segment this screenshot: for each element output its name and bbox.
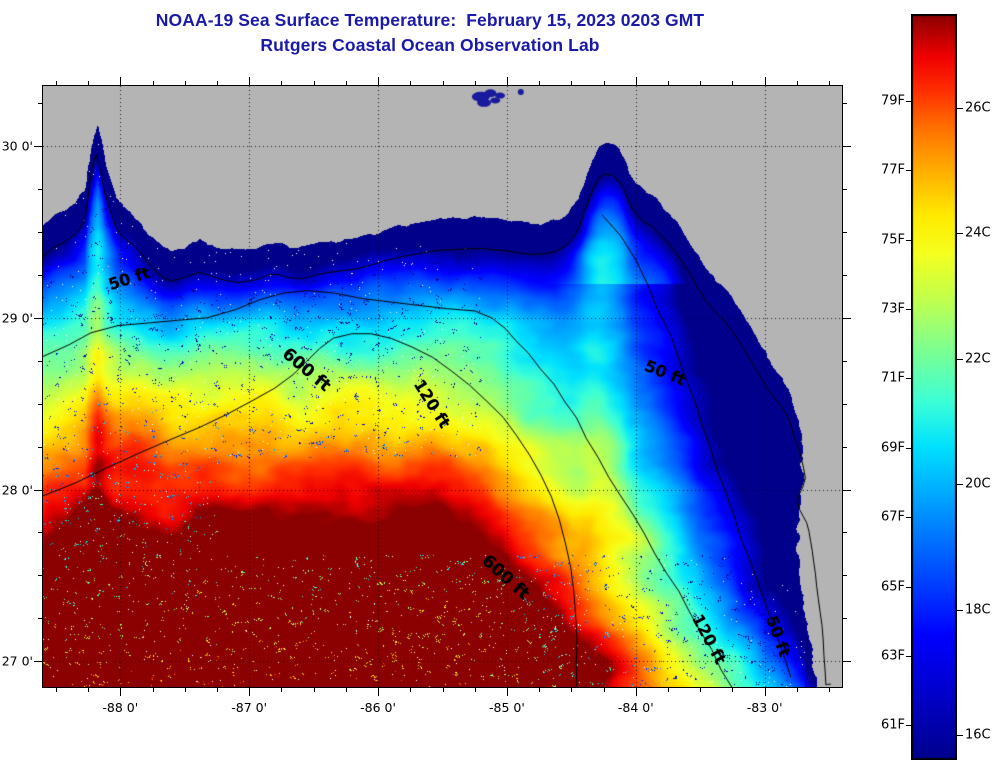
x-minor-tick-top <box>668 81 669 86</box>
colorbar-tick-f <box>906 101 912 102</box>
x-axis-label: -83 0' <box>747 700 783 715</box>
colorbar-label-celsius: 18C <box>965 602 991 617</box>
page-title: NOAA-19 Sea Surface Temperature: Februar… <box>0 8 860 58</box>
x-minor-tick-top <box>88 81 89 86</box>
x-minor-tick-top <box>217 81 218 86</box>
x-minor-tick <box>829 687 830 692</box>
x-minor-tick-top <box>410 81 411 86</box>
y-minor-tick <box>38 189 43 190</box>
sst-heatmap-canvas <box>43 86 842 687</box>
colorbar-label-fahrenheit: 79F <box>865 93 905 108</box>
y-minor-tick-right <box>842 404 847 405</box>
x-minor-tick <box>88 687 89 692</box>
x-minor-tick-top <box>829 81 830 86</box>
x-minor-tick <box>346 687 347 692</box>
colorbar-tick-c <box>957 735 963 736</box>
x-minor-tick <box>281 687 282 692</box>
y-axis-label: 28 0' <box>0 482 33 497</box>
title-line-2: Rutgers Coastal Ocean Observation Lab <box>0 33 860 58</box>
y-axis-label: 30 0' <box>0 139 33 154</box>
x-minor-tick <box>314 687 315 692</box>
colorbar-label-celsius: 20C <box>965 477 991 492</box>
x-minor-tick-top <box>314 81 315 86</box>
x-minor-tick <box>797 687 798 692</box>
y-minor-tick <box>38 103 43 104</box>
x-minor-tick <box>56 687 57 692</box>
colorbar-label-fahrenheit: 63F <box>865 648 905 663</box>
x-minor-tick-top <box>732 81 733 86</box>
x-minor-tick-top <box>56 81 57 86</box>
colorbar-tick-f <box>906 170 912 171</box>
y-minor-tick-right <box>842 618 847 619</box>
x-minor-tick <box>153 687 154 692</box>
x-minor-tick <box>604 687 605 692</box>
x-major-tick-top <box>120 77 121 86</box>
y-minor-tick <box>38 447 43 448</box>
x-minor-tick-top <box>185 81 186 86</box>
y-major-tick-right <box>842 146 851 147</box>
y-minor-tick-right <box>842 575 847 576</box>
colorbar-tick-f <box>906 240 912 241</box>
x-minor-tick <box>700 687 701 692</box>
y-minor-tick <box>38 275 43 276</box>
x-major-tick-top <box>507 77 508 86</box>
colorbar-label-fahrenheit: 75F <box>865 232 905 247</box>
colorbar-tick-f <box>906 725 912 726</box>
y-major-tick-right <box>842 318 851 319</box>
x-minor-tick <box>217 687 218 692</box>
x-axis-label: -87 0' <box>231 700 267 715</box>
colorbar-label-fahrenheit: 61F <box>865 718 905 733</box>
colorbar-label-fahrenheit: 73F <box>865 301 905 316</box>
y-minor-tick <box>38 232 43 233</box>
y-major-tick <box>34 318 43 319</box>
x-major-tick <box>249 687 250 696</box>
y-major-tick-right <box>842 661 851 662</box>
sst-map <box>42 85 843 688</box>
x-minor-tick-top <box>443 81 444 86</box>
y-minor-tick-right <box>842 447 847 448</box>
y-minor-tick-right <box>842 275 847 276</box>
colorbar-tick-c <box>957 233 963 234</box>
x-axis-label: -88 0' <box>102 700 138 715</box>
x-minor-tick-top <box>604 81 605 86</box>
y-major-tick <box>34 661 43 662</box>
x-major-tick <box>378 687 379 696</box>
y-minor-tick <box>38 404 43 405</box>
x-major-tick-top <box>249 77 250 86</box>
colorbar-tick-f <box>906 656 912 657</box>
colorbar-label-fahrenheit: 71F <box>865 371 905 386</box>
colorbar-gradient <box>911 14 957 760</box>
colorbar-tick-c <box>957 108 963 109</box>
x-major-tick <box>765 687 766 696</box>
x-minor-tick-top <box>153 81 154 86</box>
colorbar-tick-f <box>906 448 912 449</box>
x-minor-tick <box>668 687 669 692</box>
x-minor-tick <box>443 687 444 692</box>
y-minor-tick <box>38 532 43 533</box>
colorbar-tick-c <box>957 359 963 360</box>
y-minor-tick <box>38 575 43 576</box>
colorbar-label-celsius: 26C <box>965 101 991 116</box>
x-minor-tick-top <box>700 81 701 86</box>
y-minor-tick-right <box>842 361 847 362</box>
x-minor-tick-top <box>346 81 347 86</box>
x-minor-tick <box>185 687 186 692</box>
x-major-tick-top <box>765 77 766 86</box>
colorbar-label-fahrenheit: 77F <box>865 163 905 178</box>
x-minor-tick-top <box>571 81 572 86</box>
x-minor-tick <box>475 687 476 692</box>
x-major-tick-top <box>378 77 379 86</box>
x-minor-tick-top <box>539 81 540 86</box>
x-minor-tick <box>571 687 572 692</box>
x-major-tick <box>507 687 508 696</box>
x-axis-label: -85 0' <box>489 700 525 715</box>
x-minor-tick-top <box>797 81 798 86</box>
colorbar-tick-f <box>906 517 912 518</box>
y-minor-tick-right <box>842 232 847 233</box>
x-major-tick-top <box>636 77 637 86</box>
colorbar-label-celsius: 24C <box>965 226 991 241</box>
x-minor-tick-top <box>281 81 282 86</box>
y-minor-tick-right <box>842 103 847 104</box>
colorbar-tick-f <box>906 378 912 379</box>
y-major-tick <box>34 490 43 491</box>
y-major-tick <box>34 146 43 147</box>
x-minor-tick <box>539 687 540 692</box>
y-minor-tick-right <box>842 532 847 533</box>
y-axis-label: 27 0' <box>0 654 33 669</box>
y-minor-tick <box>38 618 43 619</box>
temperature-colorbar <box>911 14 957 760</box>
x-major-tick <box>120 687 121 696</box>
y-minor-tick-right <box>842 189 847 190</box>
colorbar-label-fahrenheit: 69F <box>865 440 905 455</box>
colorbar-tick-f <box>906 309 912 310</box>
x-axis-label: -86 0' <box>360 700 396 715</box>
x-minor-tick <box>410 687 411 692</box>
colorbar-label-fahrenheit: 65F <box>865 579 905 594</box>
y-minor-tick <box>38 361 43 362</box>
x-minor-tick-top <box>475 81 476 86</box>
colorbar-label-fahrenheit: 67F <box>865 510 905 525</box>
x-axis-label: -84 0' <box>618 700 654 715</box>
colorbar-tick-c <box>957 610 963 611</box>
x-major-tick <box>636 687 637 696</box>
title-line-1: NOAA-19 Sea Surface Temperature: Februar… <box>0 8 860 33</box>
y-axis-label: 29 0' <box>0 310 33 325</box>
x-minor-tick <box>732 687 733 692</box>
colorbar-tick-c <box>957 484 963 485</box>
colorbar-tick-f <box>906 587 912 588</box>
colorbar-label-celsius: 22C <box>965 351 991 366</box>
colorbar-label-celsius: 16C <box>965 727 991 742</box>
y-major-tick-right <box>842 490 851 491</box>
